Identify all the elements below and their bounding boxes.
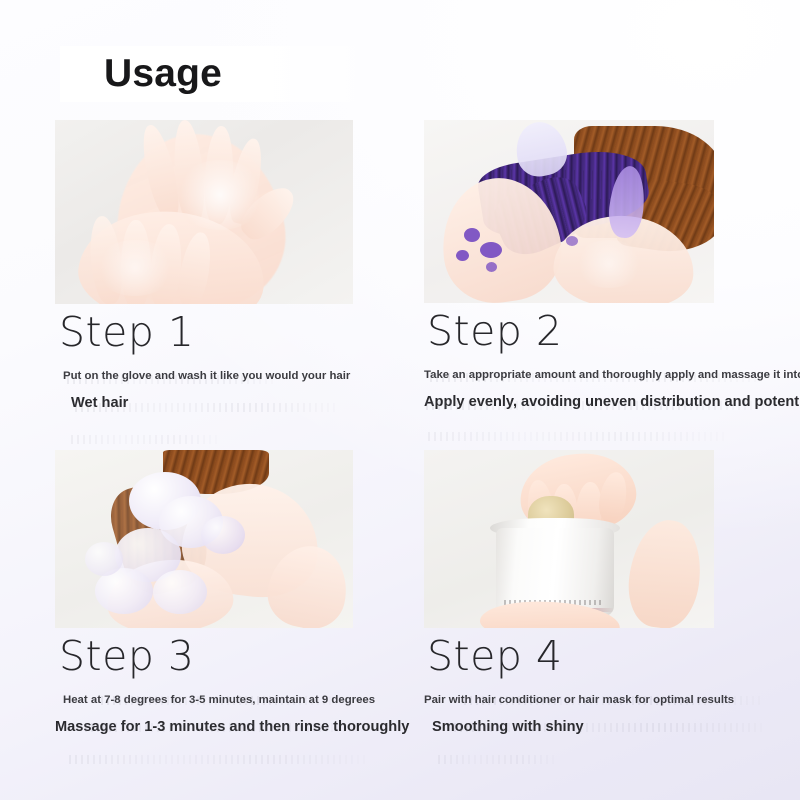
step-4-summary: Smoothing with shiny <box>432 718 784 737</box>
step-2-heading: Step 2 <box>424 309 784 355</box>
step-1-summary: Wet hair <box>71 394 395 413</box>
step-2-photo <box>424 120 714 303</box>
step-card-2: Step 2 Take an appropriate amount and th… <box>424 120 784 412</box>
step-3-heading: Step 3 <box>55 634 395 680</box>
ghost-text-artifact <box>71 435 221 444</box>
step-1-description: Put on the glove and wash it like you wo… <box>63 369 395 384</box>
page-title: Usage <box>104 44 222 104</box>
step-1-heading: Step 1 <box>55 310 395 356</box>
step-3-description: Heat at 7-8 degrees for 3-5 minutes, mai… <box>63 693 395 708</box>
step-2-summary: Apply evenly, avoiding uneven distributi… <box>424 393 784 412</box>
dye-droplet <box>480 242 502 258</box>
step-1-photo <box>55 120 353 304</box>
ghost-text-artifact <box>428 432 728 441</box>
dye-droplet <box>486 262 497 272</box>
step-card-4: okcs 中度 Step 4 Pair with hair conditione… <box>424 450 784 737</box>
step-4-heading: Step 4 <box>424 634 784 680</box>
foam-lather <box>201 516 245 554</box>
foam-lather <box>85 542 123 576</box>
step-3-photo <box>55 450 353 628</box>
glove-sheen <box>574 240 644 288</box>
ghost-text-artifact <box>438 755 558 764</box>
step-2-description: Take an appropriate amount and thoroughl… <box>424 368 784 383</box>
step-card-1: Step 1 Put on the glove and wash it like… <box>55 120 395 413</box>
step-4-photo: okcs 中度 <box>424 450 714 628</box>
step-3-summary: Massage for 1-3 minutes and then rinse t… <box>55 718 395 737</box>
dye-droplet <box>464 228 480 242</box>
glove-sheen <box>175 160 265 230</box>
glove-sheen <box>95 240 175 296</box>
foam-lather <box>153 570 207 614</box>
ghost-text-artifact <box>69 755 369 764</box>
title-block: Usage <box>60 44 390 106</box>
usage-instruction-graphic: Usage Step 1 Put on the glove and wash i… <box>0 0 800 800</box>
step-4-description: Pair with hair conditioner or hair mask … <box>424 693 784 708</box>
dye-droplet <box>566 236 578 246</box>
dye-droplet <box>456 250 469 261</box>
step-card-3: Step 3 Heat at 7-8 degrees for 3-5 minut… <box>55 450 395 737</box>
